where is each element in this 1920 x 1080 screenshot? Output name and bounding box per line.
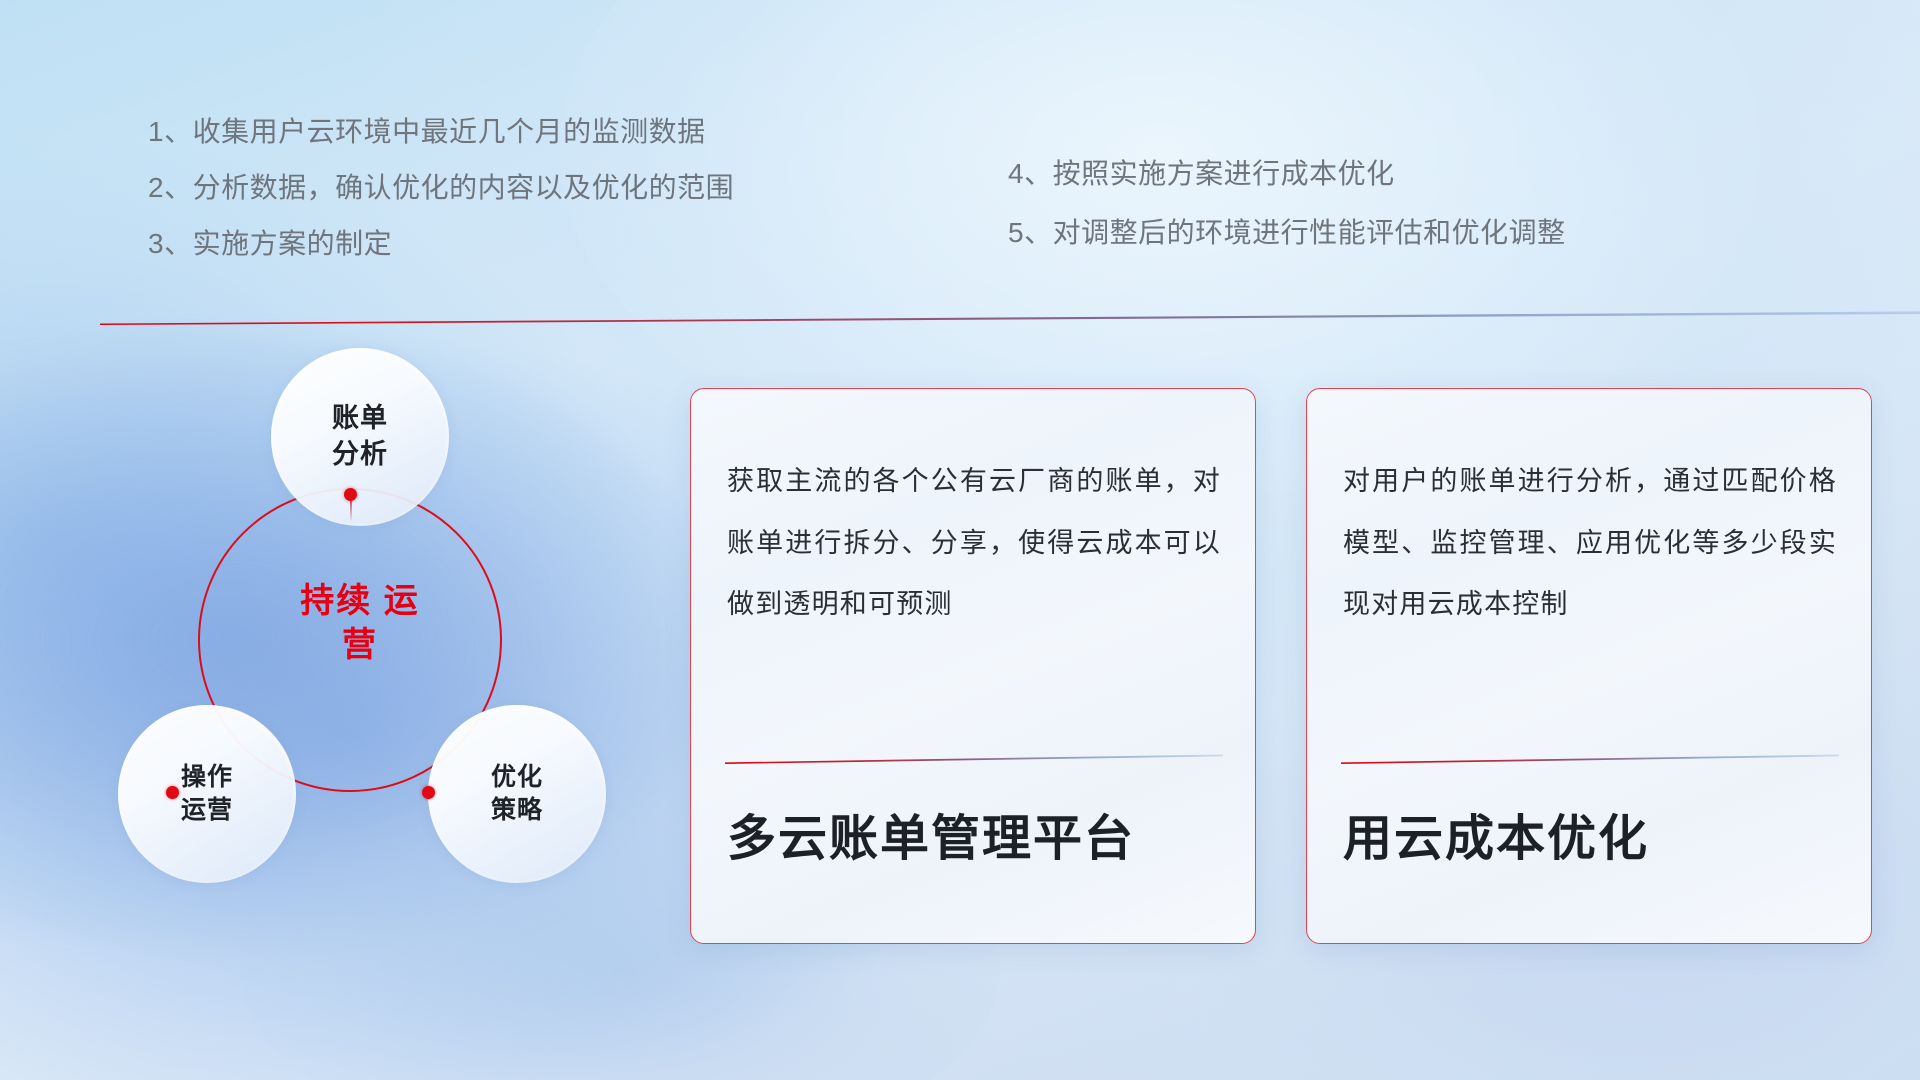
venn-diagram: 账单 分析 操作 运营 优化 策略 持续 运营 xyxy=(100,348,660,948)
venn-bubble-label-line2: 分析 xyxy=(332,437,388,473)
venn-bubble-label-line2: 策略 xyxy=(491,794,543,827)
venn-bubble-label-line1: 优化 xyxy=(491,761,543,794)
bullet-list-left: 1、收集用户云环境中最近几个月的监测数据 2、分析数据，确认优化的内容以及优化的… xyxy=(148,118,734,286)
section-divider xyxy=(100,311,1920,322)
bullet-item: 2、分析数据，确认优化的内容以及优化的范围 xyxy=(148,174,734,202)
bullet-list-right: 4、按照实施方案进行成本优化 5、对调整后的环境进行性能评估和优化调整 xyxy=(1008,160,1566,278)
slide-canvas: 1、收集用户云环境中最近几个月的监测数据 2、分析数据，确认优化的内容以及优化的… xyxy=(0,0,1920,1080)
venn-tick-top xyxy=(350,500,352,522)
venn-node-dot-left xyxy=(166,786,179,799)
card-cloud-cost-optimization[interactable]: 对用户的账单进行分析，通过匹配价格模型、监控管理、应用优化等多少段实现对用云成本… xyxy=(1306,388,1872,944)
venn-bubble-operations[interactable]: 操作 运营 xyxy=(118,705,296,883)
venn-bubble-label-line2: 运营 xyxy=(181,794,233,827)
card-body-text: 获取主流的各个公有云厂商的账单，对账单进行拆分、分享，使得云成本可以做到透明和可… xyxy=(727,451,1221,636)
venn-bubble-label-line1: 账单 xyxy=(332,401,388,437)
venn-bubble-label-line1: 操作 xyxy=(181,761,233,794)
bullet-item: 5、对调整后的环境进行性能评估和优化调整 xyxy=(1008,219,1566,247)
card-title: 用云成本优化 xyxy=(1343,809,1841,870)
venn-node-dot-top xyxy=(344,488,357,501)
card-title: 多云账单管理平台 xyxy=(727,809,1225,870)
venn-bubble-optimization-strategy[interactable]: 优化 策略 xyxy=(428,705,606,883)
bullet-item: 3、实施方案的制定 xyxy=(148,230,734,258)
venn-node-dot-right xyxy=(422,786,435,799)
venn-bubble-billing-analysis[interactable]: 账单 分析 xyxy=(271,348,449,526)
card-divider xyxy=(1341,751,1839,759)
venn-center-label: 持续 运营 xyxy=(290,580,430,667)
card-multicloud-billing-platform[interactable]: 获取主流的各个公有云厂商的账单，对账单进行拆分、分享，使得云成本可以做到透明和可… xyxy=(690,388,1256,944)
bullet-item: 1、收集用户云环境中最近几个月的监测数据 xyxy=(148,118,734,146)
bullet-item: 4、按照实施方案进行成本优化 xyxy=(1008,160,1566,188)
card-divider xyxy=(725,751,1223,759)
card-body-text: 对用户的账单进行分析，通过匹配价格模型、监控管理、应用优化等多少段实现对用云成本… xyxy=(1343,451,1837,636)
venn-center-label-line1: 持续 xyxy=(300,582,372,620)
